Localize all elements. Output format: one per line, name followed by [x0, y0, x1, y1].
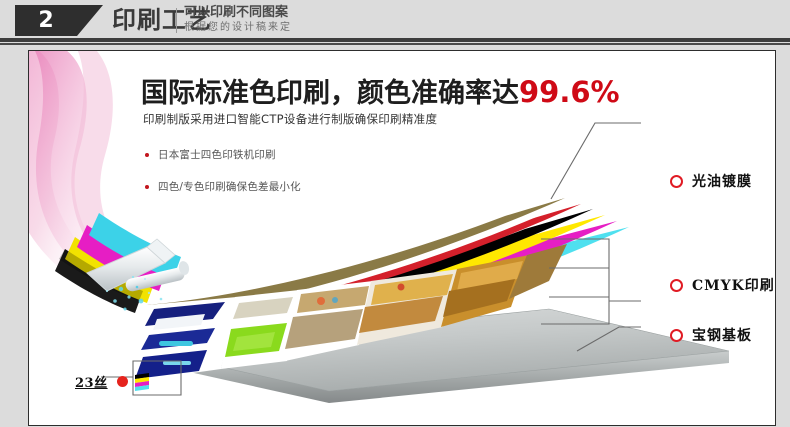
- headline-accuracy-value: 99.6%: [519, 75, 620, 109]
- callout-base-plate-label: 宝钢基板: [692, 325, 752, 345]
- feature-list: 日本富士四色印铁机印刷 四色/专色印刷确保色差最小化: [145, 147, 301, 211]
- callout-coating: 光油镀膜: [670, 171, 752, 191]
- header-step-number: 2: [38, 10, 53, 32]
- callout-marker-icon: [670, 329, 683, 342]
- sheet-edge-cut: [135, 373, 149, 391]
- page-subtitle: 印刷制版采用进口智能CTP设备进行制版确保印刷精准度: [143, 111, 437, 127]
- header-rule-secondary: [0, 43, 790, 45]
- header-subtitle-line2: 根据您的设计稿来定: [184, 21, 292, 35]
- header-subtitle-block: 可以印刷不同图案 根据您的设计稿来定: [184, 5, 292, 35]
- callout-base-plate: 宝钢基板: [670, 325, 752, 345]
- headline-prefix: 国际标准色印刷，颜色准确率达: [141, 78, 519, 109]
- list-item-label: 日本富士四色印铁机印刷: [158, 147, 276, 162]
- callout-thickness: 23丝: [75, 372, 128, 391]
- page-root: 2 印刷工艺 可以印刷不同图案 根据您的设计稿来定: [0, 0, 790, 427]
- callout-thickness-label: 23丝: [75, 372, 108, 391]
- bullet-dot-icon: [145, 153, 149, 157]
- page-title: 国际标准色印刷，颜色准确率达99.6%: [141, 71, 620, 110]
- header-divider: [176, 8, 177, 33]
- callout-cmyk: CMYK印刷: [670, 275, 775, 295]
- content-panel: 国际标准色印刷，颜色准确率达99.6% 印刷制版采用进口智能CTP设备进行制版确…: [28, 50, 776, 426]
- section-header: 2 印刷工艺 可以印刷不同图案 根据您的设计稿来定: [0, 0, 790, 40]
- leader-coating: [551, 123, 641, 199]
- callout-cmyk-label: CMYK印刷: [692, 275, 775, 295]
- list-item: 四色/专色印刷确保色差最小化: [145, 179, 301, 194]
- header-rule-primary: [0, 38, 790, 42]
- list-item: 日本富士四色印铁机印刷: [145, 147, 301, 162]
- header-badge-slant: [77, 5, 103, 36]
- bullet-dot-icon: [145, 185, 149, 189]
- callout-marker-icon: [670, 175, 683, 188]
- callout-coating-label: 光油镀膜: [692, 171, 752, 191]
- header-subtitle-line1: 可以印刷不同图案: [184, 5, 292, 21]
- header-step-badge: 2: [15, 5, 77, 36]
- callout-marker-icon: [670, 279, 683, 292]
- list-item-label: 四色/专色印刷确保色差最小化: [158, 179, 301, 194]
- callout-thickness-marker-icon: [117, 376, 128, 387]
